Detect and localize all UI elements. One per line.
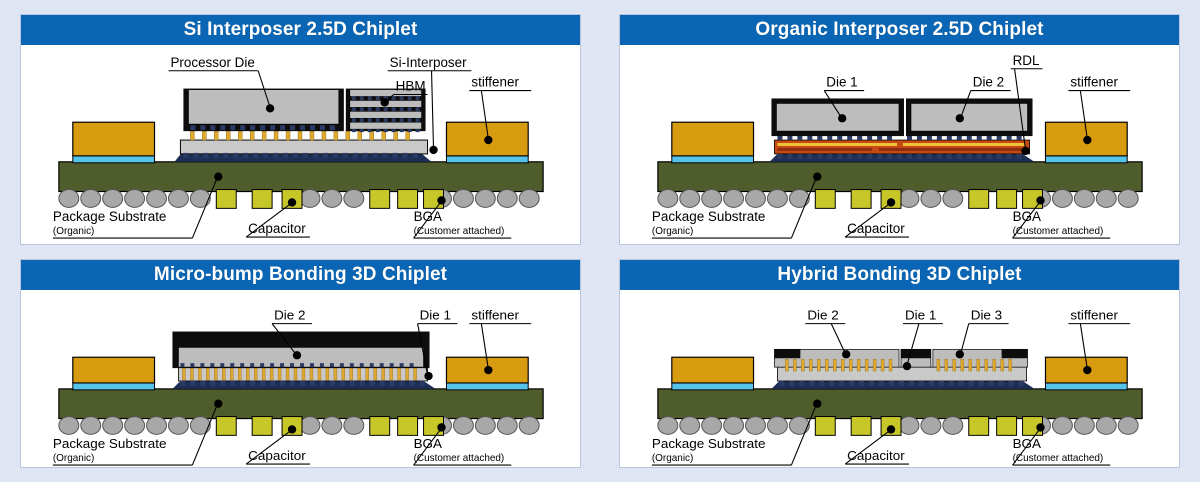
panel-title-hybrid-bonding-3d: Hybrid Bonding 3D Chiplet bbox=[620, 260, 1179, 290]
die-1 bbox=[771, 98, 904, 136]
bga-capacitor-row bbox=[658, 417, 1138, 436]
label-die-2: Die 2 bbox=[973, 75, 1004, 90]
panel-hybrid-bonding-3d: Hybrid Bonding 3D Chiplet bbox=[619, 259, 1180, 468]
package-substrate-body bbox=[658, 162, 1142, 192]
rdl-layer bbox=[774, 140, 1029, 154]
bga-capacitor-row bbox=[59, 417, 539, 436]
label-si-interposer: Si-Interposer bbox=[390, 55, 467, 70]
label-stiffener: stiffener bbox=[471, 308, 519, 323]
package-substrate-body bbox=[658, 389, 1142, 419]
stiffener-left bbox=[73, 357, 155, 390]
panel-diagram-hybrid-bonding-3d: Die 2 Die 1 Die 3 bbox=[620, 290, 1179, 467]
label-package-substrate-sub: (Organic) bbox=[53, 226, 94, 237]
label-bga-sub: (Customer attached) bbox=[1013, 226, 1104, 237]
panel-micro-bump-3d: Micro-bump Bonding 3D Chiplet bbox=[20, 259, 581, 468]
label-stiffener: stiffener bbox=[471, 75, 519, 90]
label-bga: BGA bbox=[414, 436, 442, 451]
label-die-2: Die 2 bbox=[807, 308, 838, 323]
hbm-stack bbox=[346, 89, 426, 133]
die-2 bbox=[172, 332, 429, 369]
label-die-3: Die 3 bbox=[971, 308, 1002, 323]
label-package-substrate: Package Substrate bbox=[652, 436, 766, 451]
label-package-substrate: Package Substrate bbox=[53, 436, 167, 451]
panel-title-organic-interposer: Organic Interposer 2.5D Chiplet bbox=[620, 15, 1179, 45]
panel-si-interposer: Si Interposer 2.5D Chiplet bbox=[20, 14, 581, 245]
label-hbm: HBM bbox=[396, 79, 426, 94]
package-substrate-body bbox=[59, 162, 543, 192]
bga-capacitor-row bbox=[658, 190, 1138, 209]
label-processor-die: Processor Die bbox=[170, 55, 254, 70]
base-die bbox=[777, 367, 1026, 381]
label-bga-sub: (Customer attached) bbox=[414, 226, 505, 237]
label-package-substrate-sub: (Organic) bbox=[652, 453, 693, 464]
label-stiffener: stiffener bbox=[1070, 75, 1118, 90]
panel-diagram-micro-bump-3d: Die 2 Die 1 stiffener bbox=[21, 290, 580, 467]
label-rdl: RDL bbox=[1013, 53, 1040, 68]
label-bga-sub: (Customer attached) bbox=[414, 453, 505, 464]
panel-title-micro-bump-3d: Micro-bump Bonding 3D Chiplet bbox=[21, 260, 580, 290]
label-bga-sub: (Customer attached) bbox=[1013, 453, 1104, 464]
si-interposer-body bbox=[180, 140, 427, 154]
stiffener-left bbox=[73, 122, 155, 163]
label-bga: BGA bbox=[1013, 209, 1041, 224]
label-die-1: Die 1 bbox=[420, 308, 451, 323]
label-package-substrate-sub: (Organic) bbox=[652, 226, 693, 237]
package-substrate-body bbox=[59, 389, 543, 419]
panel-organic-interposer: Organic Interposer 2.5D Chiplet bbox=[619, 14, 1180, 245]
label-die-1: Die 1 bbox=[905, 308, 936, 323]
die-2 bbox=[906, 98, 1033, 136]
panel-diagram-organic-interposer: Die 1 Die 2 RDL s bbox=[620, 45, 1179, 244]
label-bga: BGA bbox=[414, 209, 442, 224]
label-bga: BGA bbox=[1013, 436, 1041, 451]
stiffener-left bbox=[672, 357, 754, 390]
label-package-substrate-sub: (Organic) bbox=[53, 453, 94, 464]
label-die-1: Die 1 bbox=[826, 75, 857, 90]
processor-die bbox=[183, 89, 343, 132]
stiffener-left bbox=[672, 122, 754, 163]
micro-bump-row bbox=[190, 131, 409, 140]
label-package-substrate: Package Substrate bbox=[53, 209, 167, 224]
panel-title-si-interposer: Si Interposer 2.5D Chiplet bbox=[21, 15, 580, 45]
label-package-substrate: Package Substrate bbox=[652, 209, 766, 224]
bga-capacitor-row bbox=[59, 190, 539, 209]
chiplet-packaging-diagram: Si Interposer 2.5D Chiplet bbox=[0, 0, 1200, 482]
label-die-2: Die 2 bbox=[274, 308, 305, 323]
label-stiffener: stiffener bbox=[1070, 308, 1118, 323]
panel-diagram-si-interposer: Processor Die HBM Si-Interposer bbox=[21, 45, 580, 244]
